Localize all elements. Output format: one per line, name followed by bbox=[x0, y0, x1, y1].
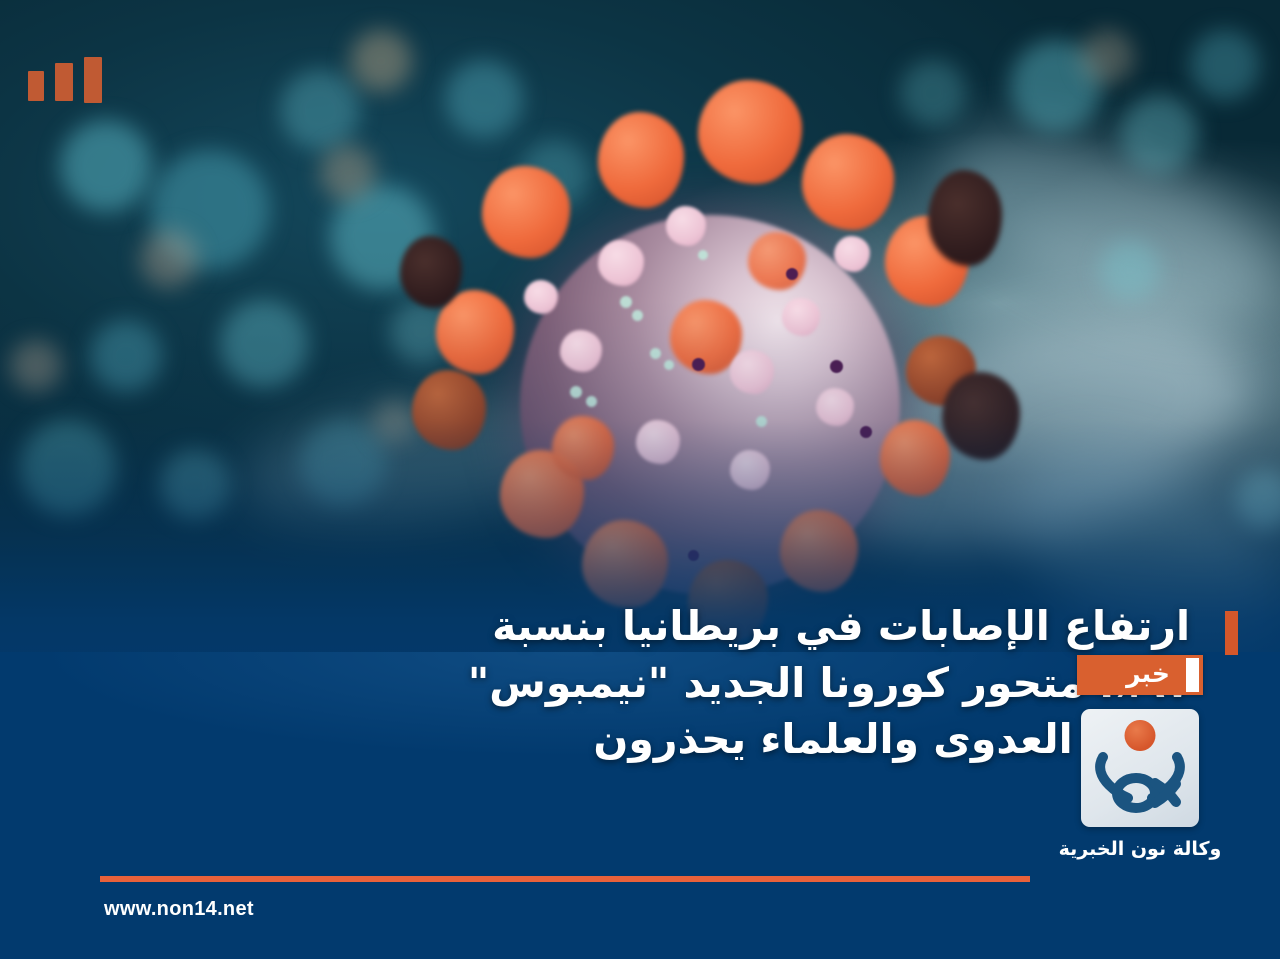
brand-column: خبر وكالة نون الخبرية bbox=[1045, 655, 1235, 860]
news-card: ارتفاع الإصابات في بريطانيا بنسبة ٩٧٪: م… bbox=[0, 0, 1280, 959]
virus-spike-pink bbox=[598, 240, 644, 286]
virus-spike-pink bbox=[834, 236, 870, 272]
virus-spike-dark bbox=[928, 170, 1002, 266]
logo-glyph bbox=[1081, 709, 1199, 827]
membrane-dot bbox=[786, 268, 798, 280]
bokeh-circle bbox=[1120, 95, 1198, 173]
receptor-dot bbox=[698, 250, 708, 260]
hero-photo bbox=[0, 0, 1280, 660]
noon-agency-logo-icon bbox=[1081, 709, 1199, 827]
three-bars-logo-icon bbox=[28, 57, 102, 103]
virus-spike bbox=[698, 80, 802, 184]
headline-line-1: ارتفاع الإصابات في بريطانيا بنسبة bbox=[256, 598, 1216, 655]
divider-rule bbox=[100, 876, 1030, 882]
headline-accent-bar bbox=[1225, 611, 1238, 655]
bokeh-circle-warm bbox=[1080, 30, 1134, 84]
bokeh-circle bbox=[60, 120, 152, 212]
bar-3 bbox=[28, 71, 44, 101]
virus-spike-pink bbox=[666, 206, 706, 246]
virus-spike bbox=[802, 134, 894, 230]
bokeh-circle bbox=[1100, 240, 1160, 300]
virus-spike-surface bbox=[748, 232, 806, 290]
virus-spike bbox=[482, 166, 570, 258]
bar-1 bbox=[84, 57, 102, 103]
website-url[interactable]: www.non14.net bbox=[104, 898, 254, 921]
bokeh-circle bbox=[1190, 30, 1260, 100]
news-badge: خبر bbox=[1077, 655, 1203, 695]
bokeh-circle-warm bbox=[320, 145, 376, 201]
bokeh-circle bbox=[280, 70, 360, 150]
bar-2 bbox=[55, 63, 73, 101]
virus-spike-dark bbox=[400, 236, 462, 308]
agency-name: وكالة نون الخبرية bbox=[1059, 838, 1222, 860]
virus-spike bbox=[598, 112, 684, 208]
bokeh-circle-warm bbox=[140, 230, 198, 288]
bokeh-circle bbox=[900, 60, 966, 126]
bokeh-circle-warm bbox=[350, 30, 412, 92]
news-badge-label: خبر bbox=[1110, 661, 1170, 689]
